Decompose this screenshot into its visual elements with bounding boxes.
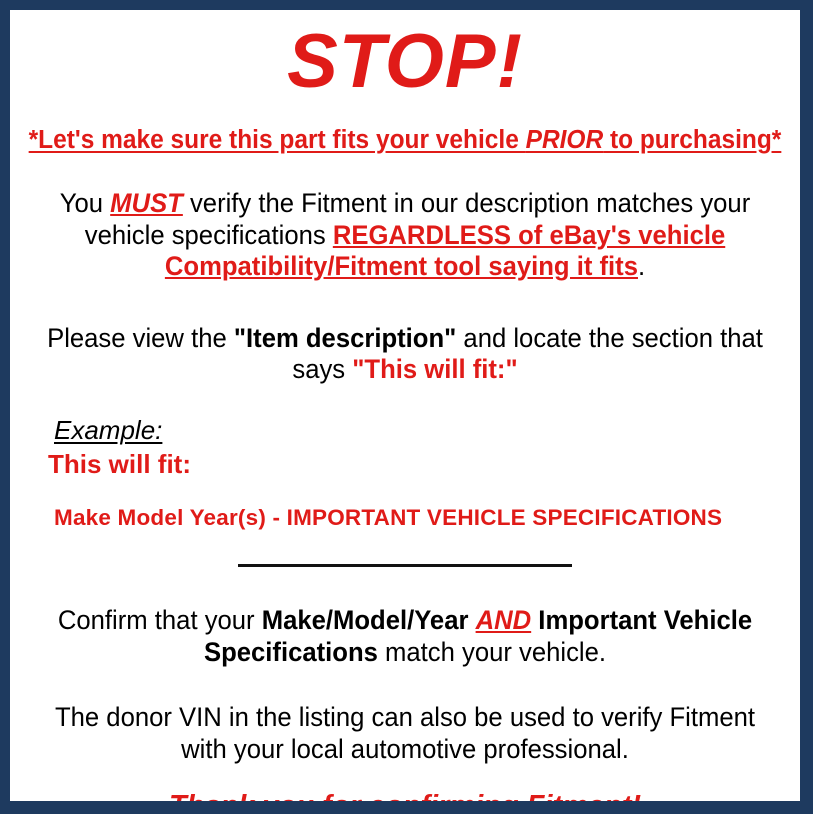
confirm-text-1: Confirm that your	[58, 605, 262, 635]
subtitle-line: *Let's make sure this part fits your veh…	[26, 100, 784, 154]
paragraph-confirm-match: Confirm that your Make/Model/Year AND Im…	[30, 575, 781, 668]
para1-emphasis-must: MUST	[110, 188, 183, 218]
para2-emphasis-this-will-fit: "This will fit:"	[352, 354, 517, 384]
confirm-emphasis-and: AND	[476, 605, 532, 635]
example-label-row: Example:	[54, 416, 800, 445]
fitment-notice-card: STOP! *Let's make sure this part fits yo…	[0, 0, 813, 814]
example-fit-heading: This will fit:	[48, 445, 800, 480]
confirm-emphasis-make-model-year: Make/Model/Year	[262, 605, 469, 635]
page-title: STOP!	[10, 10, 800, 100]
subtitle-text-before: *Let's make sure this part fits your veh…	[29, 126, 526, 154]
para2-text-1: Please view the	[47, 323, 234, 353]
subtitle-text-after: to purchasing*	[603, 126, 781, 154]
confirm-text-4: match your vehicle.	[378, 637, 606, 667]
subtitle-emphasis-prior: PRIOR	[526, 126, 604, 154]
section-divider	[238, 564, 572, 567]
thank-you-message: Thank you for confirming Fitment!	[10, 765, 800, 814]
para2-emphasis-item-description: "Item description"	[234, 323, 456, 353]
para1-text-1: You	[60, 188, 110, 218]
para1-text-3: .	[638, 251, 645, 281]
paragraph-verify-fitment: You MUST verify the Fitment in our descr…	[30, 154, 781, 283]
example-specification-line: Make Model Year(s) - IMPORTANT VEHICLE S…	[54, 479, 800, 531]
example-label: Example:	[54, 416, 162, 445]
notice-inner-panel: STOP! *Let's make sure this part fits yo…	[10, 10, 800, 801]
paragraph-item-description: Please view the "Item description" and l…	[30, 283, 781, 386]
example-block: Example: This will fit: Make Model Year(…	[10, 386, 800, 531]
paragraph-donor-vin: The donor VIN in the listing can also be…	[30, 668, 781, 765]
divider-wrapper	[10, 531, 800, 575]
